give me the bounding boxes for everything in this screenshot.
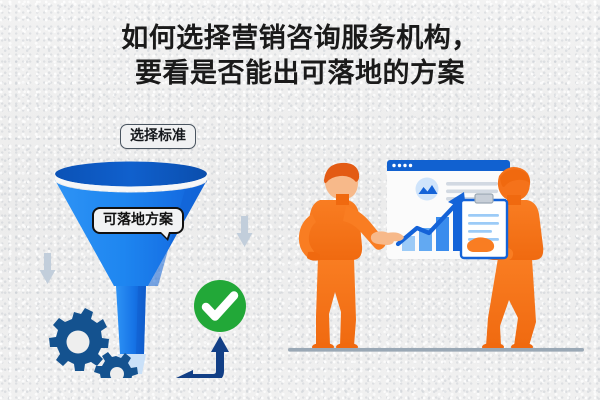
page-title: 如何选择营销咨询服务机构， 要看是否能出可落地的方案	[0, 22, 600, 91]
funnel-rim	[55, 162, 207, 187]
poster-canvas: 如何选择营销咨询服务机构， 要看是否能出可落地的方案 选择标准	[0, 0, 600, 400]
title-line-2: 要看是否能出可落地的方案	[0, 57, 600, 92]
bent-arrow-head-left	[176, 370, 193, 378]
browser-dot-3	[403, 164, 406, 167]
browser-dot-1	[392, 164, 395, 167]
browser-dot-2	[398, 164, 401, 167]
gear-large-icon	[49, 308, 109, 371]
funnel-icon	[30, 158, 280, 378]
people-scene-group	[288, 140, 588, 365]
ground-line	[288, 348, 584, 352]
bent-arrow-icon	[190, 349, 220, 378]
scene-svg	[288, 140, 588, 365]
criteria-tag: 选择标准	[120, 124, 196, 149]
down-arrow-left-icon	[40, 253, 56, 284]
title-line-1: 如何选择营销咨询服务机构，	[0, 22, 600, 57]
browser-dot-4	[409, 164, 412, 167]
funnel-illustration-group: 选择标准	[30, 120, 280, 375]
green-check-icon	[194, 280, 246, 332]
bent-arrow-head-up	[211, 336, 229, 352]
down-arrow-right-icon	[237, 216, 253, 247]
output-bubble: 可落地方案	[92, 207, 184, 234]
image-thumbnail-icon	[416, 178, 439, 201]
